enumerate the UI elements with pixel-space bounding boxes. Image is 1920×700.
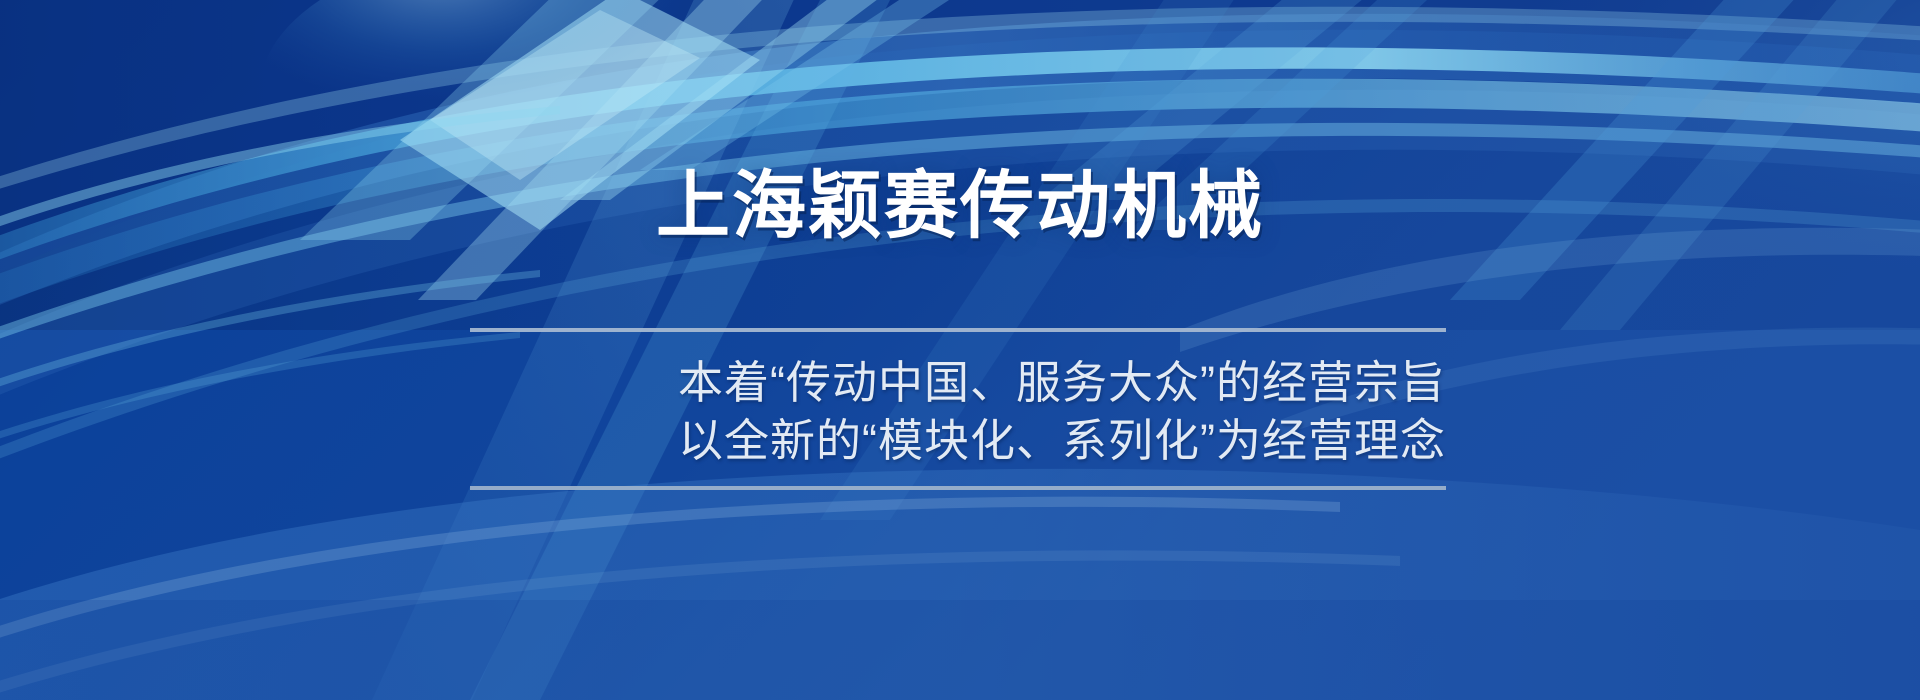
background-artwork — [0, 0, 1920, 700]
hero-banner: 上海颖赛传动机械 本着“传动中国、服务大众”的经营宗旨 以全新的“模块化、系列化… — [0, 0, 1920, 700]
